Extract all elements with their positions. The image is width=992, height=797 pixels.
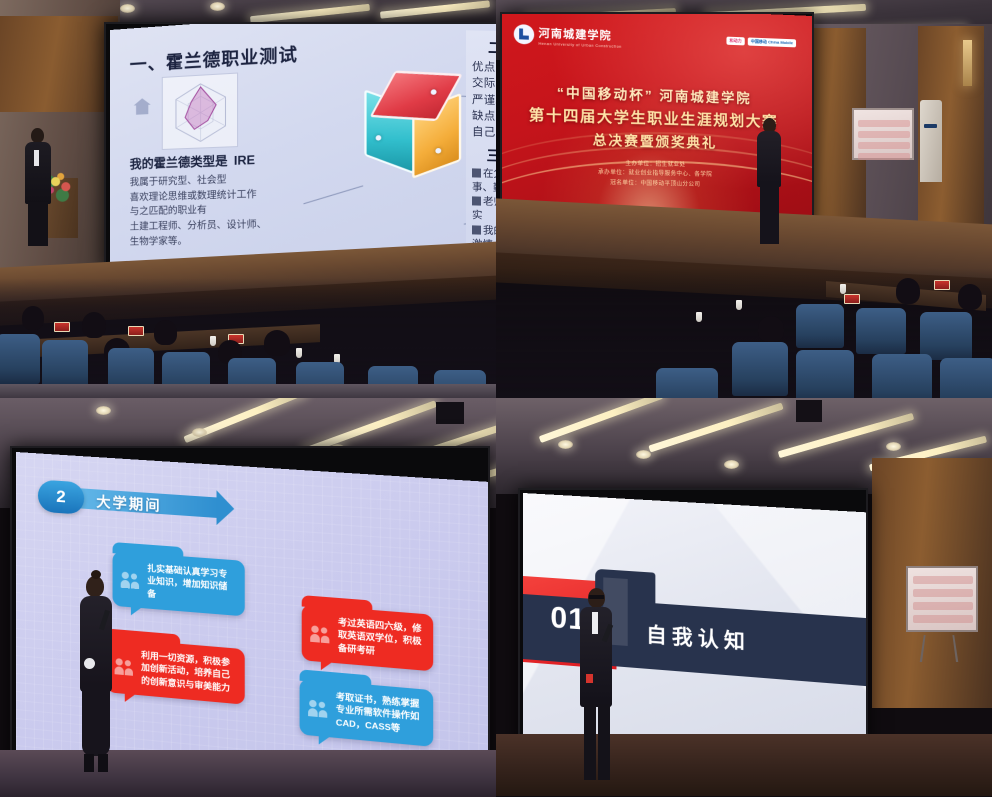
section-heading-2: 二、自我感知 xyxy=(472,36,496,60)
presenter-legs xyxy=(598,704,610,780)
school-name-cn: 河南城建学院 xyxy=(538,27,611,42)
holland-type-text: 我的霍兰德类型是 xyxy=(130,154,228,172)
tripod-legs xyxy=(920,635,959,662)
bubble-tab xyxy=(302,595,373,612)
presenter-male xyxy=(578,588,614,786)
screen-row xyxy=(913,589,973,597)
sponsor-logos: 和动力 中国移动 China Mobile xyxy=(726,37,796,48)
name-card xyxy=(844,294,860,304)
stage-floor xyxy=(0,750,496,797)
downlight-icon xyxy=(724,460,739,469)
bubble-text: 扎实基础认真学习专业知识，增加知识储备 xyxy=(147,562,235,607)
screen-row xyxy=(858,131,910,138)
hair-bun xyxy=(91,570,101,579)
audience-area xyxy=(496,268,992,398)
front-row-bar xyxy=(0,384,496,398)
downlight-icon xyxy=(558,440,573,449)
evaluation-bullet: 老师认为我学习认真、踏实 xyxy=(472,195,496,227)
callout-bubble: 利用一切资源，积极参加创新活动，培养自己的创新意识与审美能力 xyxy=(106,638,244,705)
panel-top-left: 一、霍兰德职业测试 我的霍兰德类型是IRE xyxy=(0,0,496,398)
sponsor-chip: 中国移动 China Mobile xyxy=(748,37,796,47)
presenter-legs xyxy=(760,184,779,244)
cube-graphic xyxy=(362,70,461,172)
school-logo: 河南城建学院 Henan University of Urban Constru… xyxy=(514,22,622,49)
bubble-text: 考过英语四六级，修取英语双学位，积极备研考研 xyxy=(338,616,423,662)
audience-head xyxy=(82,312,106,338)
led-screen: 一、霍兰德职业测试 我的霍兰德类型是IRE xyxy=(104,22,496,272)
home-icon xyxy=(134,98,151,115)
audience-head xyxy=(22,306,44,330)
presenter-head xyxy=(31,128,44,143)
people-icon xyxy=(308,699,329,719)
teacher-icon xyxy=(472,197,481,206)
downlight-icon xyxy=(96,406,111,415)
screen-row xyxy=(858,153,910,160)
speaker-box xyxy=(796,400,822,422)
name-card xyxy=(128,326,144,336)
auditorium-seat xyxy=(940,358,992,398)
presenter-male xyxy=(22,128,54,246)
parents-icon xyxy=(472,168,481,177)
slide-canvas: 01 自我认知 xyxy=(523,493,868,746)
bubble-text: 考取证书，熟练掌握专业所需软件操作如CAD，CASS等 xyxy=(336,690,424,737)
screen-row xyxy=(858,120,910,127)
panel-top-right: 河南城建学院 Henan University of Urban Constru… xyxy=(496,0,992,398)
paper-cup xyxy=(696,312,702,322)
wall-lamp xyxy=(963,40,972,86)
presenter-shirt xyxy=(34,150,39,166)
badge-icon xyxy=(586,674,593,683)
section-title: 大学期间 xyxy=(96,491,161,516)
slide-canvas: 一、霍兰德职业测试 我的霍兰德类型是IRE xyxy=(110,22,496,270)
bubble-tab xyxy=(300,669,372,687)
presenter-legs xyxy=(584,704,596,780)
section-heading-3: 三、360°评价 xyxy=(472,144,496,168)
auditorium-seat xyxy=(796,350,854,398)
air-conditioner xyxy=(920,100,942,182)
screen-row xyxy=(913,615,973,623)
evaluation-bullet: 在父母眼中我是一个懂事、勤奋的孩子。 xyxy=(472,166,496,198)
radar-chart xyxy=(162,72,238,150)
presenter-female xyxy=(76,576,116,776)
audience-head xyxy=(896,278,920,304)
photo-collage: 一、霍兰德职业测试 我的霍兰德类型是IRE xyxy=(0,0,992,797)
audience-head xyxy=(958,284,982,310)
led-screen: 01 自我认知 xyxy=(518,488,868,746)
downlight-icon xyxy=(636,450,651,459)
name-card xyxy=(934,280,950,290)
people-icon xyxy=(115,657,135,676)
school-name-en: Henan University of Urban Construction xyxy=(538,42,621,49)
radar-chart-svg xyxy=(163,73,239,151)
auditorium-seat xyxy=(732,342,788,396)
people-icon xyxy=(310,624,331,643)
demerit-line: 自己的意见为主。 xyxy=(472,125,496,144)
audience-head xyxy=(264,330,290,356)
holland-type-label: 我的霍兰德类型是IRE xyxy=(130,151,255,173)
downlight-icon xyxy=(886,442,901,451)
wood-wall-panel xyxy=(0,16,118,112)
stage-floor xyxy=(496,734,992,796)
paper-cup xyxy=(840,284,846,294)
callout-bubble: 考取证书，熟练掌握专业所需软件操作如CAD，CASS等 xyxy=(300,679,434,748)
presenter-head xyxy=(86,576,104,597)
slide-body-text: 我属于研究型、社会型 喜欢理论思维或数理统计工作 与之匹配的职业有 土建工程师、… xyxy=(130,171,296,250)
audience-area xyxy=(0,278,496,398)
paper-cup xyxy=(296,348,302,358)
tripod-projection-screen xyxy=(906,566,978,632)
auditorium-seat xyxy=(0,334,40,384)
auditorium-seat xyxy=(856,308,906,354)
holland-type-value: IRE xyxy=(234,153,255,168)
people-icon xyxy=(121,571,141,590)
presenter-female xyxy=(754,118,784,244)
presenter-shirt xyxy=(592,612,598,634)
bubble-tab xyxy=(106,629,180,646)
auditorium-seat xyxy=(656,368,718,398)
presenter-skirt xyxy=(82,686,110,756)
screen-row xyxy=(858,142,910,149)
presenter-legs xyxy=(84,754,94,772)
presenter-torso xyxy=(757,131,781,187)
panel-bottom-right: 01 自我认知 xyxy=(496,398,992,797)
audience-head xyxy=(154,320,177,345)
bubble-tab xyxy=(113,542,184,558)
school-emblem-icon xyxy=(514,24,534,45)
slide-right-column: 二、自我感知 优点：热情、开朗、好 交际、尽心竭力、做事 严谨。 缺点：有时做事… xyxy=(466,30,496,272)
paper-cup xyxy=(210,336,216,346)
friend-icon xyxy=(472,225,481,234)
body-line: 生物学家等。 xyxy=(130,233,296,250)
auditorium-seat xyxy=(796,304,844,348)
slide-title: 一、霍兰德职业测试 xyxy=(130,40,298,76)
paper-cup xyxy=(736,300,742,310)
presentation-slide: 一、霍兰德职业测试 我的霍兰德类型是IRE xyxy=(110,22,496,270)
presenter-legs xyxy=(98,754,108,772)
presentation-slide: 01 自我认知 xyxy=(523,493,868,746)
speaker-box xyxy=(436,402,464,424)
name-card xyxy=(54,322,70,332)
panel-bottom-left: 2 大学期间 扎实基础认真学习专业知识，增加知识储备 xyxy=(0,398,496,797)
side-projection-screen xyxy=(852,108,914,160)
screen-row xyxy=(913,602,973,610)
auditorium-seat xyxy=(920,312,972,360)
callout-bubble: 考过英语四六级，修取英语双学位，积极备研考研 xyxy=(302,604,433,671)
presenter-legs xyxy=(28,202,48,246)
downlight-icon xyxy=(210,2,225,11)
glasses-icon xyxy=(589,595,604,599)
leader-line xyxy=(303,185,363,204)
sponsor-chip: 和动力 xyxy=(726,37,744,46)
callout-bubble: 扎实基础认真学习专业知识，增加知识储备 xyxy=(113,551,245,617)
downlight-icon xyxy=(120,4,135,13)
number-badge xyxy=(84,658,95,669)
step-badge: 2 xyxy=(38,479,84,514)
auditorium-seat xyxy=(42,340,88,390)
auditorium-seat xyxy=(872,354,932,398)
downlight-icon xyxy=(192,428,207,437)
bubble-text: 利用一切资源，积极参加创新活动，培养自己的创新意识与审美能力 xyxy=(141,649,235,695)
screen-row xyxy=(913,576,973,584)
audience-head xyxy=(758,316,784,342)
